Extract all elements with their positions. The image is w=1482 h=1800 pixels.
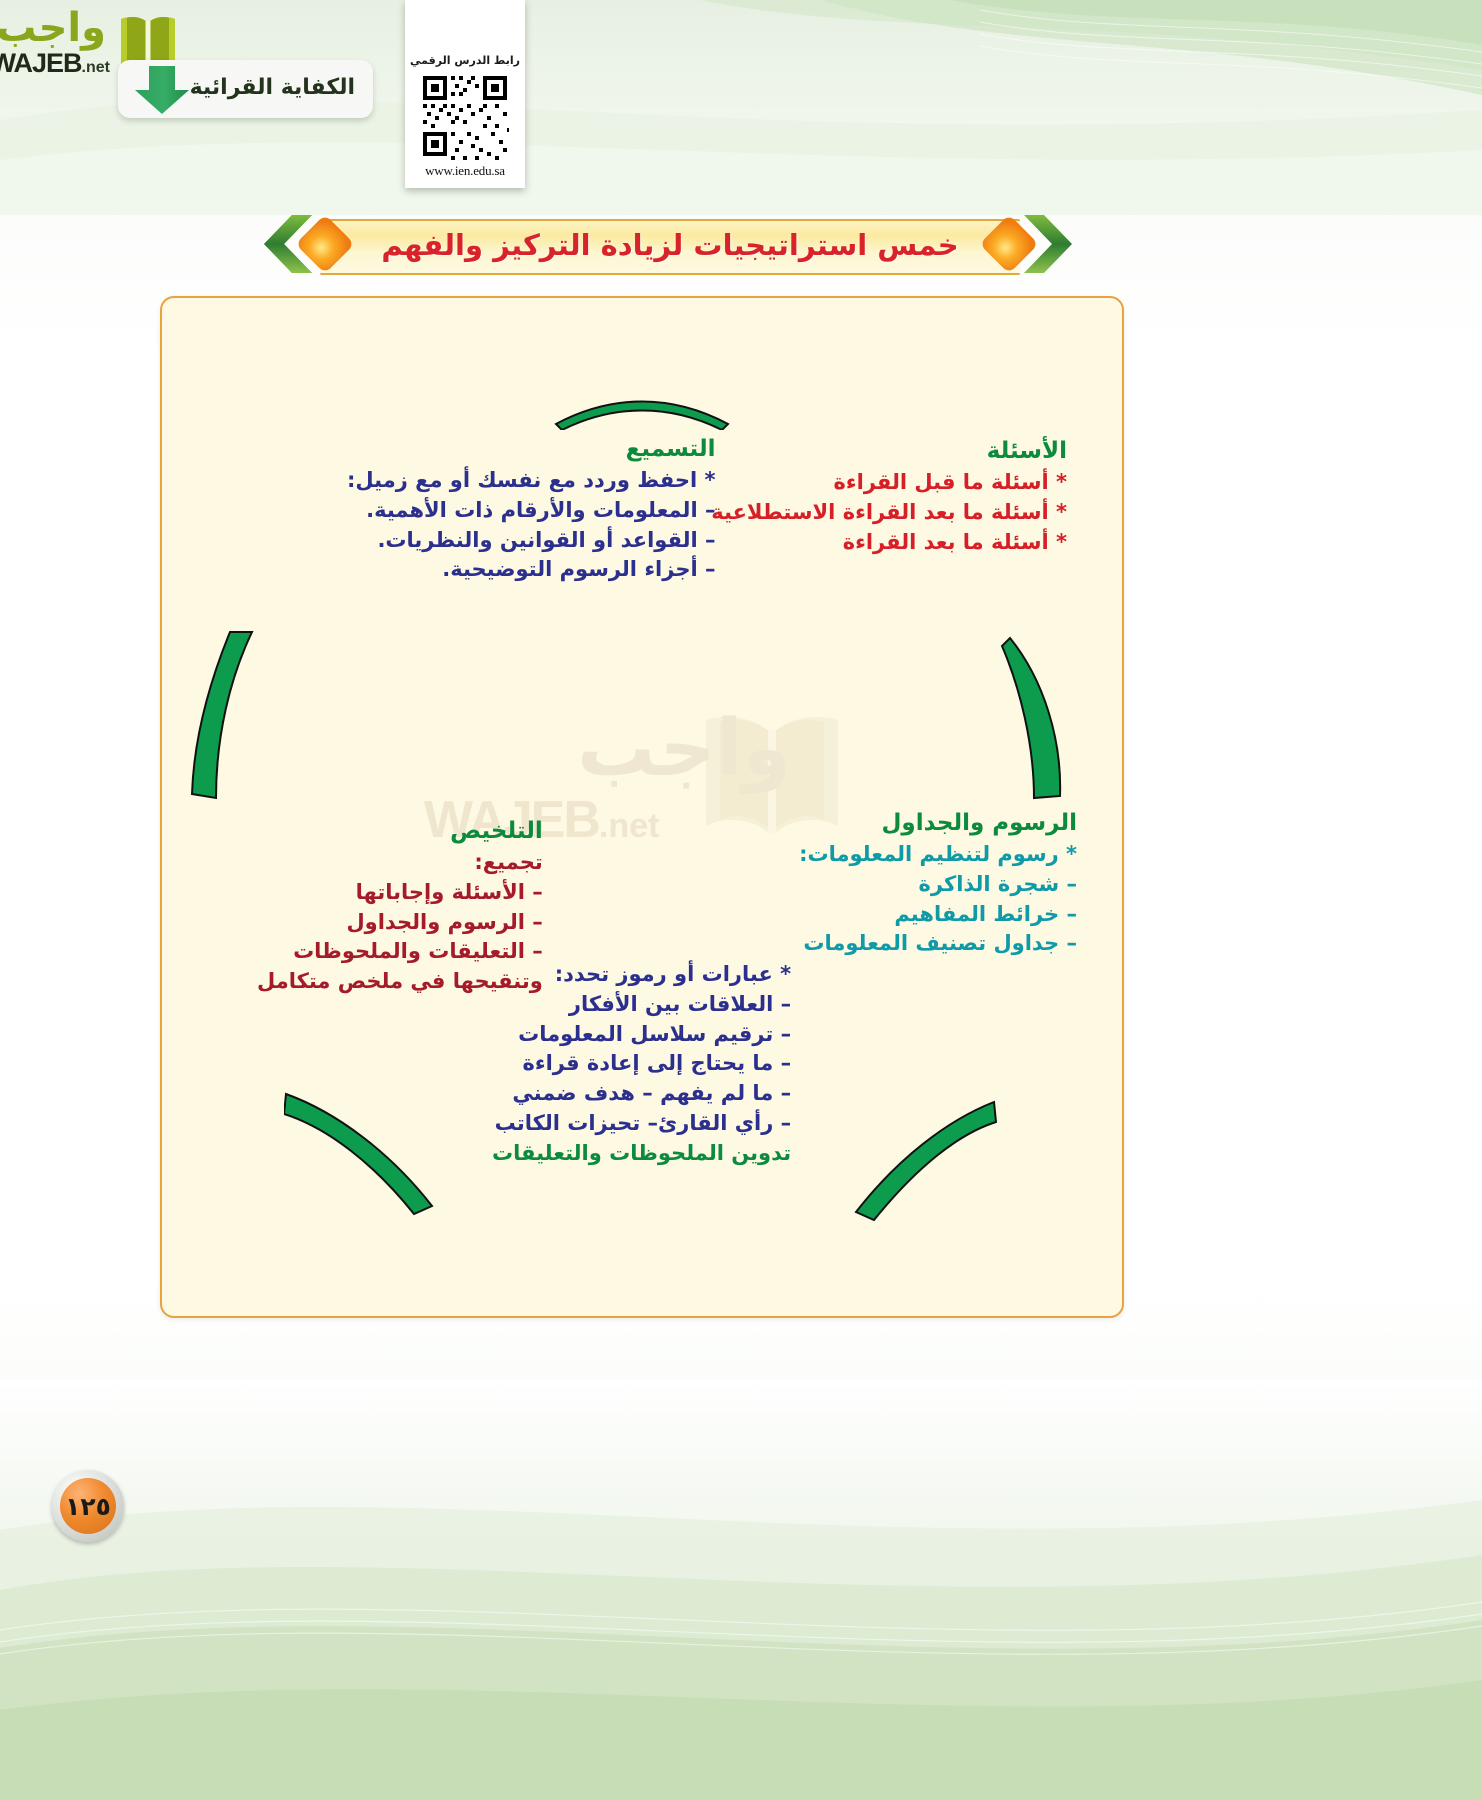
competency-badge: الكفاية القرائية <box>118 60 373 118</box>
footer-swoosh-decoration <box>0 1380 1482 1800</box>
strategy-heading-summary: التلخيص <box>257 818 543 844</box>
strategy-line: – ما لم يفهم – هدف ضمني <box>492 1079 791 1109</box>
strategy-line: * رسوم لتنظيم المعلومات: <box>799 840 1077 870</box>
strategy-line: – العلاقات بين الأفكار <box>492 990 791 1020</box>
page-number-badge: ١٢٥ <box>52 1470 124 1542</box>
qr-code-icon[interactable] <box>419 72 511 160</box>
qr-url-label: www.ien.edu.sa <box>405 163 525 179</box>
strategy-heading-charts: الرسوم والجداول <box>799 810 1077 836</box>
strategy-block-charts: الرسوم والجداول * رسوم لتنظيم المعلومات:… <box>799 810 1077 959</box>
down-arrow-icon <box>132 64 194 116</box>
competency-label: الكفاية القرائية <box>190 75 355 100</box>
arc-bottom-left <box>284 1088 439 1216</box>
strategy-line: – أجزاء الرسوم التوضيحية. <box>347 555 715 585</box>
strategy-line: – الرسوم والجداول <box>257 908 543 938</box>
strategy-line: – شجرة الذاكرة <box>799 870 1077 900</box>
strategy-line: * احفظ وردد مع نفسك أو مع زميل: <box>347 466 715 496</box>
watermark-latin-suffix: .net <box>599 807 659 845</box>
watermark-arabic: واجب <box>577 704 791 794</box>
wajeb-latin-suffix: .net <box>82 59 110 76</box>
strategy-line: – ترقيم سلاسل المعلومات <box>492 1020 791 1050</box>
strategy-line: * أسئلة ما قبل القراءة <box>711 468 1067 498</box>
section-title-banner: خمس استراتيجيات لزيادة التركيز والفهم <box>258 205 1078 275</box>
strategy-line: – ما يحتاج إلى إعادة قراءة <box>492 1049 791 1079</box>
strategy-footer-line: تدوين الملحوظات والتعليقات <box>492 1139 791 1169</box>
strategy-line: * أسئلة ما بعد القراءة <box>711 528 1067 558</box>
strategy-block-recite: التسميع * احفظ وردد مع نفسك أو مع زميل: … <box>347 436 715 585</box>
arc-bottom-right <box>842 1098 997 1223</box>
qr-caption: رابط الدرس الرقمي <box>405 54 525 67</box>
strategy-line: تجميع: <box>257 848 543 878</box>
strategy-line: – خرائط المفاهيم <box>799 900 1077 930</box>
arc-left-upper <box>190 630 270 802</box>
banner-title: خمس استراتيجيات لزيادة التركيز والفهم <box>320 219 1020 271</box>
strategies-diagram-card: واجب WAJEB.net الأسئلة * أسئلة ما قبل ال… <box>160 296 1124 1318</box>
strategy-block-questions: الأسئلة * أسئلة ما قبل القراءة * أسئلة م… <box>711 438 1067 557</box>
strategy-heading-questions: الأسئلة <box>711 438 1067 464</box>
wajeb-latin-bold: WAJEB <box>0 48 82 78</box>
strategy-line: – جداول تصنيف المعلومات <box>799 929 1077 959</box>
strategy-heading-recite: التسميع <box>347 436 715 462</box>
strategy-line: – المعلومات والأرقام ذات الأهمية. <box>347 496 715 526</box>
page-number: ١٢٥ <box>60 1478 116 1534</box>
strategy-block-notes: * عبارات أو رموز تحدد: – العلاقات بين ال… <box>492 960 791 1169</box>
strategy-line: * أسئلة ما بعد القراءة الاستطلاعية <box>711 498 1067 528</box>
digital-lesson-qr-card[interactable]: رابط الدرس الرقمي <box>405 0 525 188</box>
wajeb-arabic-wordmark: واجب <box>0 8 106 48</box>
strategy-line: – القواعد أو القوانين والنظريات. <box>347 526 715 556</box>
arc-right-upper <box>1000 636 1072 801</box>
strategy-line: – رأي القارئ– تحيزات الكاتب <box>492 1109 791 1139</box>
wajeb-latin-wordmark: WAJEB.net <box>0 48 110 79</box>
strategy-line: – الأسئلة وإجاباتها <box>257 878 543 908</box>
strategy-line: * عبارات أو رموز تحدد: <box>492 960 791 990</box>
arc-top <box>552 390 732 430</box>
